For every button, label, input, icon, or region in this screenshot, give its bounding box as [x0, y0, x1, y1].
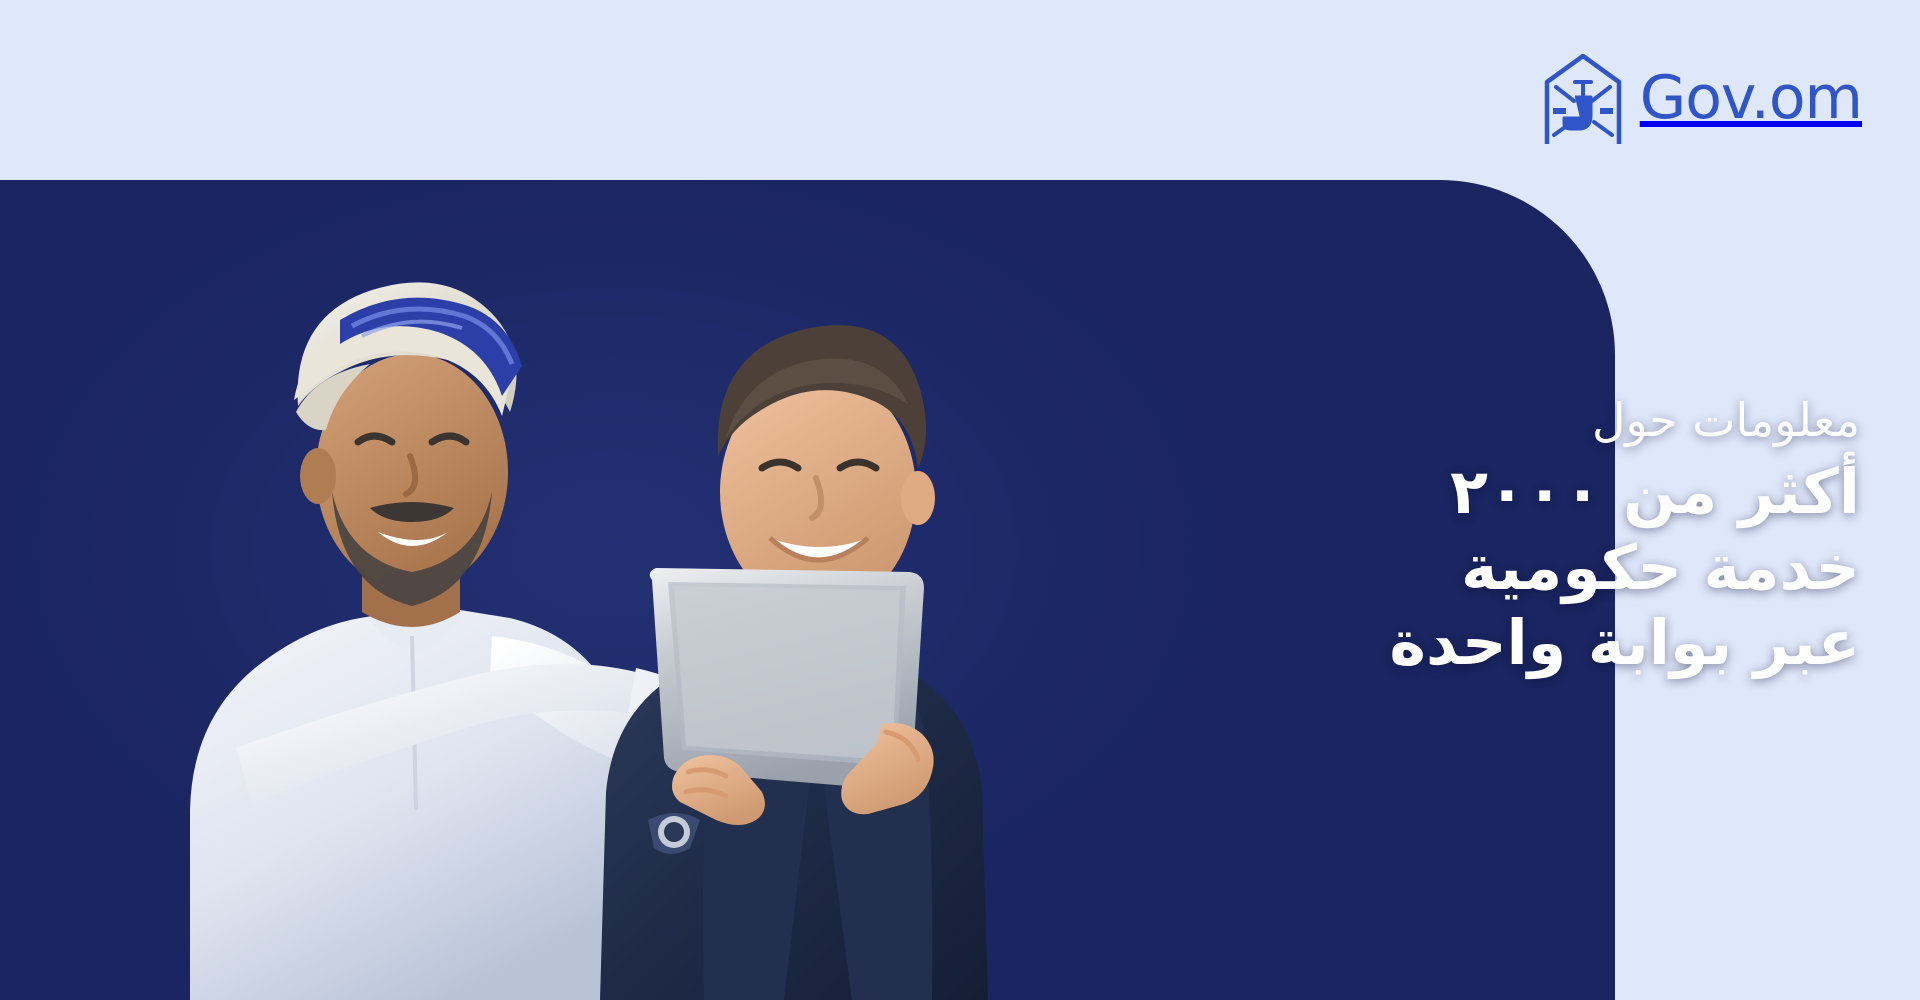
- headline-line-2: أكثر من ٢٠٠٠: [1240, 454, 1860, 530]
- headline-block: معلومات حول أكثر من ٢٠٠٠ خدمة حكومية عبر…: [1240, 392, 1860, 681]
- headline-line-4: عبر بوابة واحدة: [1240, 605, 1860, 681]
- headline-line-3: خدمة حكومية: [1240, 530, 1860, 606]
- gov-om-logo[interactable]: Gov.om: [1542, 52, 1862, 144]
- gov-om-arch-khanjar-emblem-icon: [1542, 52, 1624, 144]
- headline-line-1: معلومات حول: [1240, 392, 1860, 448]
- banner-stage: معلومات حول أكثر من ٢٠٠٠ خدمة حكومية عبر…: [0, 0, 1920, 1000]
- gov-om-wordmark: Gov.om: [1640, 68, 1862, 128]
